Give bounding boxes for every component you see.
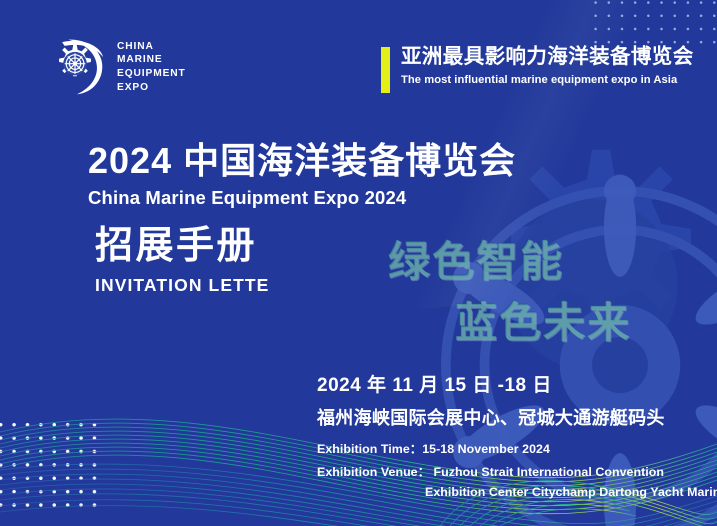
poster-canvas: CHINA MARINE EQUIPMENT EXPO 亚洲最具影响力海洋装备博… — [0, 0, 717, 526]
page-title-chinese: 2024 中国海洋装备博览会 — [88, 141, 516, 181]
main-title-block: 2024 中国海洋装备博览会 China Marine Equipment Ex… — [88, 141, 516, 209]
brand-logo[interactable]: CHINA MARINE EQUIPMENT EXPO — [46, 36, 186, 98]
dot-grid-top-right — [589, 0, 717, 48]
gear-ship-wheel-globe-logo-icon — [46, 36, 108, 98]
invitation-block: 招展手册 INVITATION LETTE — [95, 226, 269, 296]
logo-line-4: EXPO — [117, 81, 186, 95]
event-date-chinese: 2024 年 11 月 15 日 -18 日 — [317, 370, 717, 397]
event-info-block: 2024 年 11 月 15 日 -18 日 福州海峡国际会展中心、冠城大通游艇… — [317, 370, 717, 499]
tagline-text: 亚洲最具影响力海洋装备博览会 The most influential mari… — [401, 45, 694, 86]
invitation-english: INVITATION LETTE — [95, 275, 269, 296]
invitation-chinese: 招展手册 — [95, 226, 269, 268]
page-title-english: China Marine Equipment Expo 2024 — [88, 187, 516, 209]
event-venue-chinese: 福州海峡国际会展中心、冠城大通游艇码头 — [317, 404, 717, 430]
tagline-english: The most influential marine equipment ex… — [401, 74, 694, 86]
event-venue-english-1: Exhibition Venue： Fuzhou Strait Internat… — [317, 462, 717, 480]
slogan-line-2: 蓝色未来 — [455, 289, 631, 350]
accent-bar — [381, 47, 390, 93]
logo-line-1: CHINA — [117, 40, 186, 54]
tagline-chinese: 亚洲最具影响力海洋装备博览会 — [401, 45, 694, 69]
tagline-block: 亚洲最具影响力海洋装备博览会 The most influential mari… — [381, 45, 694, 93]
logo-line-2: MARINE — [117, 53, 186, 67]
event-venue-english-2: Exhibition Center Citychamp Dartong Yach… — [317, 485, 717, 499]
event-time-english: Exhibition Time：15-18 November 2024 — [317, 439, 717, 457]
slogan-line-1: 绿色智能 — [388, 228, 564, 289]
logo-line-3: EQUIPMENT — [117, 67, 186, 81]
logo-wordmark: CHINA MARINE EQUIPMENT EXPO — [117, 40, 186, 95]
dot-grid-bottom-left — [0, 418, 98, 510]
